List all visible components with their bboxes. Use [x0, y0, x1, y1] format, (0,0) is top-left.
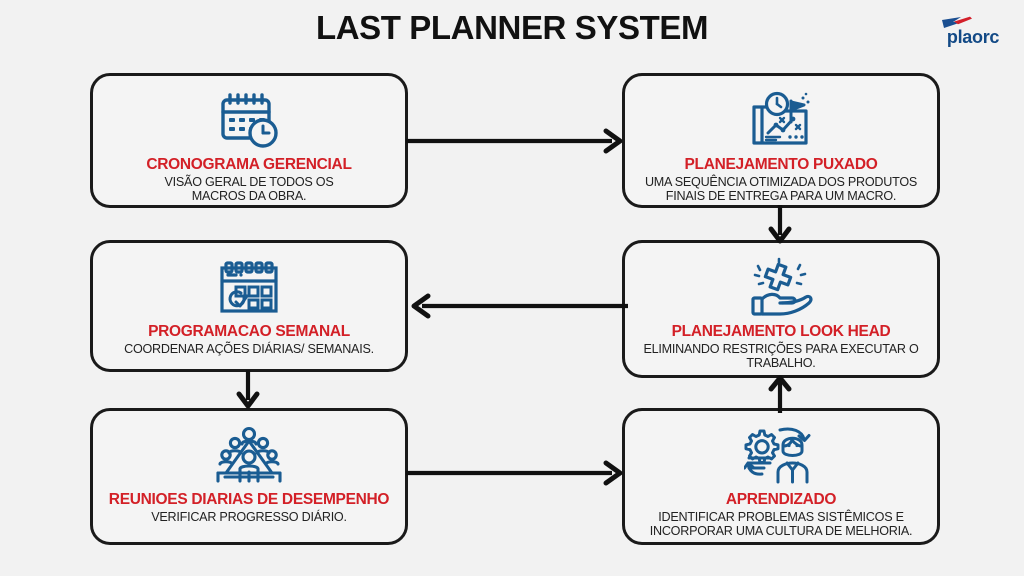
gear-person-learning-icon — [743, 423, 819, 489]
node-cronograma-gerencial[interactable]: CRONOGRAMA GERENCIAL VISÃO GERAL DE TODO… — [90, 73, 408, 208]
node-aprendizado[interactable]: APRENDIZADO IDENTIFICAR PROBLEMAS SISTÊM… — [622, 408, 940, 545]
node-title: CRONOGRAMA GERENCIAL — [146, 156, 351, 174]
node-reunioes-diarias-de-desempenho[interactable]: REUNIOES DIARIAS DE DESEMPENHO VERIFICAR… — [90, 408, 408, 545]
connector-semanal-to-reunioes — [235, 370, 261, 410]
node-programacao-semanal[interactable]: PROGRAMACAO SEMANAL COORDENAR AÇÕES DIÁR… — [90, 240, 408, 372]
node-description: VISÃO GERAL DE TODOS OS MACROS DA OBRA. — [134, 175, 365, 203]
brand-wordmark: plaorc — [934, 27, 1012, 48]
connector-cronograma-to-puxado — [406, 128, 626, 154]
node-description: IDENTIFICAR PROBLEMAS SISTÊMICOS E INCOR… — [631, 510, 932, 538]
node-title: APRENDIZADO — [726, 491, 836, 509]
connector-reunioes-to-aprendizado — [406, 460, 626, 486]
calendar-check-icon — [211, 255, 287, 321]
map-flag-clock-icon — [743, 88, 819, 154]
calendar-clock-icon — [211, 88, 287, 154]
node-planejamento-look-head[interactable]: PLANEJAMENTO LOOK HEAD ELIMINANDO RESTRI… — [622, 240, 940, 378]
page-title: LAST PLANNER SYSTEM — [0, 8, 1024, 48]
node-description: UMA SEQUÊNCIA OTIMIZADA DOS PRODUTOS FIN… — [633, 175, 929, 203]
connector-puxado-to-look-head — [767, 205, 793, 245]
node-title: REUNIOES DIARIAS DE DESEMPENHO — [109, 491, 389, 509]
node-description: VERIFICAR PROGRESSO DIÁRIO. — [143, 510, 354, 524]
brand-logo: plaorc — [934, 14, 1012, 60]
hand-remove-obstacle-icon — [743, 255, 819, 321]
node-description: COORDENAR AÇÕES DIÁRIAS/ SEMANAIS. — [116, 342, 382, 356]
node-title: PROGRAMACAO SEMANAL — [148, 323, 350, 341]
connector-aprendizado-to-look-head — [767, 375, 793, 415]
diagram-canvas: LAST PLANNER SYSTEM plaorc — [0, 0, 1024, 576]
node-title: PLANEJAMENTO PUXADO — [685, 156, 878, 174]
node-title: PLANEJAMENTO LOOK HEAD — [672, 323, 891, 341]
team-meeting-icon — [211, 423, 287, 489]
node-planejamento-puxado[interactable]: PLANEJAMENTO PUXADO UMA SEQUÊNCIA OTIMIZ… — [622, 73, 940, 208]
connector-look-head-to-semanal — [408, 293, 628, 319]
node-description: ELIMINANDO RESTRIÇÕES PARA EXECUTAR O TR… — [628, 342, 934, 370]
